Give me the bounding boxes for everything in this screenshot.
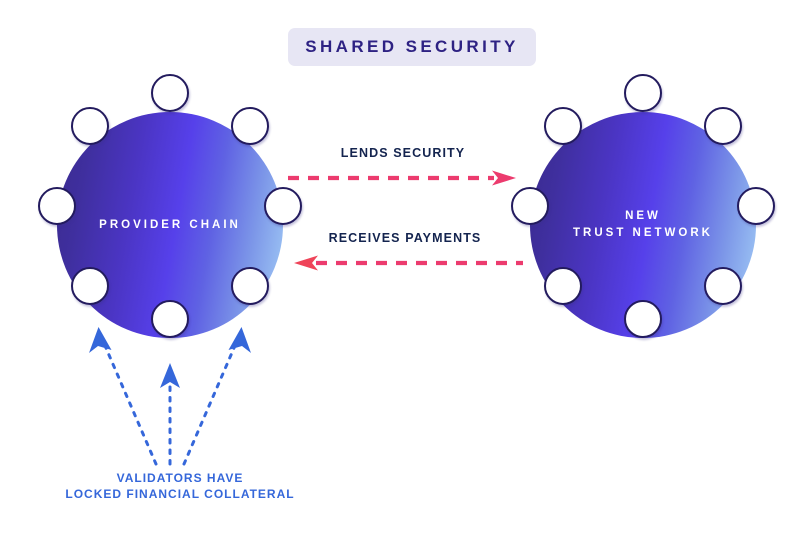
validators-caption-line-1: VALIDATORS HAVE — [30, 470, 330, 486]
page-title: SHARED SECURITY — [305, 37, 518, 57]
exchange-receives-payments: RECEIVES PAYMENTS — [286, 231, 524, 271]
validator-node[interactable] — [624, 300, 662, 338]
validators-caption-line-2: LOCKED FINANCIAL COLLATERAL — [30, 486, 330, 502]
validators-collateral-caption: VALIDATORS HAVE LOCKED FINANCIAL COLLATE… — [30, 470, 330, 502]
validator-pointer-arrows-icon — [30, 318, 330, 478]
diagram-canvas: SHARED SECURITY PROVIDER CHAIN NEW TRUST… — [0, 0, 800, 537]
validator-node[interactable] — [264, 187, 302, 225]
exchange-receives-payments-label: RECEIVES PAYMENTS — [286, 231, 524, 245]
page-title-badge: SHARED SECURITY — [288, 28, 536, 66]
network-new-trust: NEW TRUST NETWORK — [493, 75, 793, 375]
validator-node[interactable] — [151, 74, 189, 112]
validator-node[interactable] — [544, 107, 582, 145]
validator-node[interactable] — [511, 187, 549, 225]
lends-security-arrow-icon — [286, 169, 520, 187]
validators-collateral-annotation: VALIDATORS HAVE LOCKED FINANCIAL COLLATE… — [30, 318, 330, 518]
validator-node[interactable] — [71, 267, 109, 305]
exchange-lends-security: LENDS SECURITY — [286, 146, 520, 186]
validator-node[interactable] — [71, 107, 109, 145]
exchange-lends-security-label: LENDS SECURITY — [286, 146, 520, 160]
validator-node[interactable] — [704, 267, 742, 305]
validator-node[interactable] — [544, 267, 582, 305]
validator-node[interactable] — [231, 267, 269, 305]
validator-node[interactable] — [38, 187, 76, 225]
validator-node[interactable] — [231, 107, 269, 145]
validator-node[interactable] — [737, 187, 775, 225]
validator-node[interactable] — [624, 74, 662, 112]
receives-payments-arrow-icon — [286, 254, 524, 272]
validator-node[interactable] — [704, 107, 742, 145]
